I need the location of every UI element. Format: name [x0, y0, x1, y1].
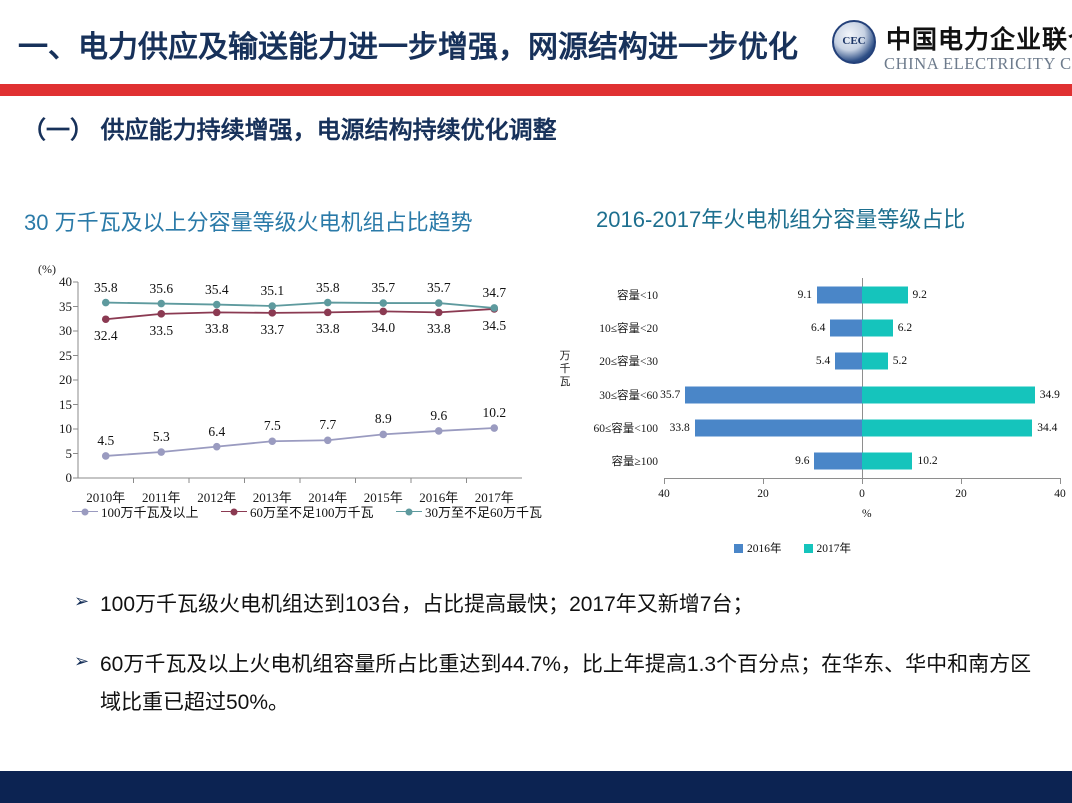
left-chart-legend-item[interactable]: 60万至不足100万千瓦	[221, 502, 374, 521]
right-chart-x-tick: 20	[757, 488, 769, 500]
bar-2016-value-label: 9.6	[795, 455, 809, 467]
left-chart-y-unit: (%)	[38, 262, 56, 277]
right-chart-y-axis-title: 万千瓦	[558, 350, 572, 389]
right-chart-legend-item[interactable]: 2017年	[804, 540, 852, 556]
legend-dot-icon	[82, 509, 89, 516]
bar-2016	[835, 353, 862, 370]
zero-axis-line	[862, 278, 863, 478]
header-divider	[0, 84, 1072, 96]
bullet-arrow-icon: ➢	[74, 586, 100, 616]
bar-2017	[862, 353, 888, 370]
left-chart-data-label: 35.8	[94, 280, 118, 296]
bar-2017-value-label: 5.2	[893, 355, 907, 367]
bullet-item: ➢100万千瓦级火电机组达到103台，占比提高最快；2017年又新增7台；	[74, 586, 1044, 624]
bar-2016-value-label: 33.8	[670, 422, 690, 434]
right-chart-x-tick: 20	[955, 488, 967, 500]
section-subtitle: （一） 供应能力持续增强，电源结构持续优化调整	[22, 110, 557, 145]
legend-label: 60万至不足100万千瓦	[250, 502, 374, 521]
legend-dot-icon	[230, 509, 237, 516]
right-chart-legend-item[interactable]: 2016年	[734, 540, 782, 556]
bar-2016-value-label: 6.4	[811, 322, 825, 334]
right-chart-x-tick-mark	[664, 478, 665, 484]
logo-name-en: CHINA ELECTRICITY COUNCIL	[884, 54, 1072, 74]
left-chart-plot-area: 05101520253035402010年2011年2012年2013年2014…	[78, 282, 522, 478]
right-chart-x-tick-mark	[862, 478, 863, 484]
left-chart-y-tick: 10	[59, 421, 72, 437]
left-chart-data-label: 35.7	[371, 280, 395, 296]
logo-name-cn: 中国电力企业联合会	[886, 20, 1072, 56]
right-chart-x-tick-mark	[1060, 478, 1061, 484]
left-chart-data-label: 8.9	[375, 411, 392, 427]
left-chart-data-label: 34.5	[482, 318, 506, 334]
bar-2016	[685, 386, 862, 403]
bar-2016-value-label: 9.1	[798, 289, 812, 301]
left-chart-data-label: 35.7	[427, 280, 451, 296]
left-chart-data-label: 34.0	[371, 320, 395, 336]
legend-line-swatch	[72, 511, 98, 512]
left-chart-title: 30 万千瓦及以上分容量等级火电机组占比趋势	[24, 205, 473, 237]
left-chart-data-label: 10.2	[482, 405, 506, 421]
bullet-item: ➢60万千瓦及以上火电机组容量所占比重达到44.7%，比上年提高1.3个百分点；…	[74, 646, 1044, 722]
legend-label: 2017年	[817, 540, 852, 556]
left-chart-y-tick: 0	[66, 470, 73, 486]
right-chart-category-label: 10≤容量<20	[599, 320, 658, 336]
bullet-list: ➢100万千瓦级火电机组达到103台，占比提高最快；2017年又新增7台；➢60…	[74, 586, 1044, 744]
left-line-chart: (%) 05101520253035402010年2011年2012年2013年…	[26, 262, 542, 530]
bar-2017	[862, 453, 912, 470]
left-chart-data-label: 35.1	[260, 283, 284, 299]
left-chart-data-label: 33.8	[316, 321, 340, 337]
bullet-text: 60万千瓦及以上火电机组容量所占比重达到44.7%，比上年提高1.3个百分点；在…	[100, 646, 1044, 722]
left-chart-legend-item[interactable]: 100万千瓦及以上	[72, 502, 199, 521]
left-chart-legend: 100万千瓦及以上60万至不足100万千瓦30万至不足60万千瓦	[72, 502, 542, 521]
bar-2016	[817, 286, 862, 303]
page-title: 一、电力供应及输送能力进一步增强，网源结构进一步优化	[18, 22, 798, 66]
legend-line-swatch	[221, 511, 247, 512]
legend-label: 2016年	[747, 540, 782, 556]
footer-bar	[0, 771, 1072, 803]
left-chart-y-tick: 5	[66, 446, 73, 462]
left-chart-data-label: 7.5	[264, 418, 281, 434]
bar-2017-value-label: 10.2	[917, 455, 937, 467]
bar-2017-value-label: 9.2	[913, 289, 927, 301]
bar-2016	[695, 420, 862, 437]
org-logo: 中国电力企业联合会 CHINA ELECTRICITY COUNCIL	[832, 18, 1064, 80]
left-chart-data-label: 35.8	[316, 280, 340, 296]
right-chart-x-tick: 40	[1054, 488, 1066, 500]
right-chart-x-tick: 0	[859, 488, 865, 500]
slide-header: 一、电力供应及输送能力进一步增强，网源结构进一步优化 中国电力企业联合会 CHI…	[0, 0, 1072, 84]
left-chart-data-label: 35.6	[149, 281, 173, 297]
left-chart-y-tick: 15	[59, 397, 72, 413]
right-chart-category-label: 容量≥100	[611, 453, 658, 469]
left-chart-data-label: 7.7	[319, 417, 336, 433]
right-tornado-chart: 万千瓦 容量<109.19.210≤容量<206.46.220≤容量<305.4…	[556, 268, 1072, 568]
right-chart-x-tick-mark	[763, 478, 764, 484]
legend-line-swatch	[396, 511, 422, 512]
left-chart-data-label: 6.4	[208, 424, 225, 440]
right-chart-category-label: 60≤容量<100	[593, 420, 658, 436]
bar-2017	[862, 320, 893, 337]
left-chart-legend-item[interactable]: 30万至不足60万千瓦	[396, 502, 542, 521]
left-chart-data-label: 33.8	[205, 321, 229, 337]
left-chart-y-tick: 20	[59, 372, 72, 388]
cec-emblem-icon	[832, 20, 876, 64]
bar-2016-value-label: 35.7	[660, 389, 680, 401]
slide-root: 一、电力供应及输送能力进一步增强，网源结构进一步优化 中国电力企业联合会 CHI…	[0, 0, 1072, 803]
right-chart-title: 2016-2017年火电机组分容量等级占比	[596, 202, 965, 234]
bar-2017	[862, 286, 908, 303]
left-chart-data-label: 33.7	[260, 322, 284, 338]
legend-color-swatch	[734, 544, 743, 553]
bar-2016	[830, 320, 862, 337]
bullet-arrow-icon: ➢	[74, 646, 100, 676]
left-chart-data-label: 32.4	[94, 328, 118, 344]
left-chart-data-label: 9.6	[430, 408, 447, 424]
legend-dot-icon	[405, 509, 412, 516]
left-chart-y-tick: 35	[59, 299, 72, 315]
legend-color-swatch	[804, 544, 813, 553]
legend-label: 100万千瓦及以上	[101, 502, 199, 521]
bar-2017-value-label: 34.4	[1037, 422, 1057, 434]
left-chart-y-tick: 30	[59, 323, 72, 339]
right-chart-category-label: 容量<10	[617, 287, 658, 303]
left-chart-data-label: 4.5	[97, 433, 114, 449]
bar-2017-value-label: 34.9	[1040, 389, 1060, 401]
left-chart-y-tick: 40	[59, 274, 72, 290]
left-chart-data-label: 34.7	[482, 285, 506, 301]
right-chart-legend: 2016年2017年	[734, 540, 851, 556]
right-chart-x-tick: 40	[658, 488, 670, 500]
right-chart-category-label: 30≤容量<60	[599, 387, 658, 403]
legend-label: 30万至不足60万千瓦	[425, 502, 542, 521]
bar-2017-value-label: 6.2	[898, 322, 912, 334]
bar-2016	[814, 453, 862, 470]
left-chart-y-tick: 25	[59, 348, 72, 364]
right-chart-x-unit: %	[862, 508, 872, 520]
left-chart-data-label: 5.3	[153, 429, 170, 445]
right-chart-x-axis: 402002040	[664, 478, 1060, 479]
bar-2017	[862, 420, 1032, 437]
bar-2017	[862, 386, 1035, 403]
bullet-text: 100万千瓦级火电机组达到103台，占比提高最快；2017年又新增7台；	[100, 586, 753, 624]
left-chart-data-label: 33.8	[427, 321, 451, 337]
right-chart-category-label: 20≤容量<30	[599, 353, 658, 369]
left-chart-data-label: 33.5	[149, 323, 173, 339]
right-chart-plot-area: 容量<109.19.210≤容量<206.46.220≤容量<305.45.23…	[664, 278, 1060, 478]
bar-2016-value-label: 5.4	[816, 355, 830, 367]
left-chart-data-label: 35.4	[205, 282, 229, 298]
right-chart-x-tick-mark	[961, 478, 962, 484]
